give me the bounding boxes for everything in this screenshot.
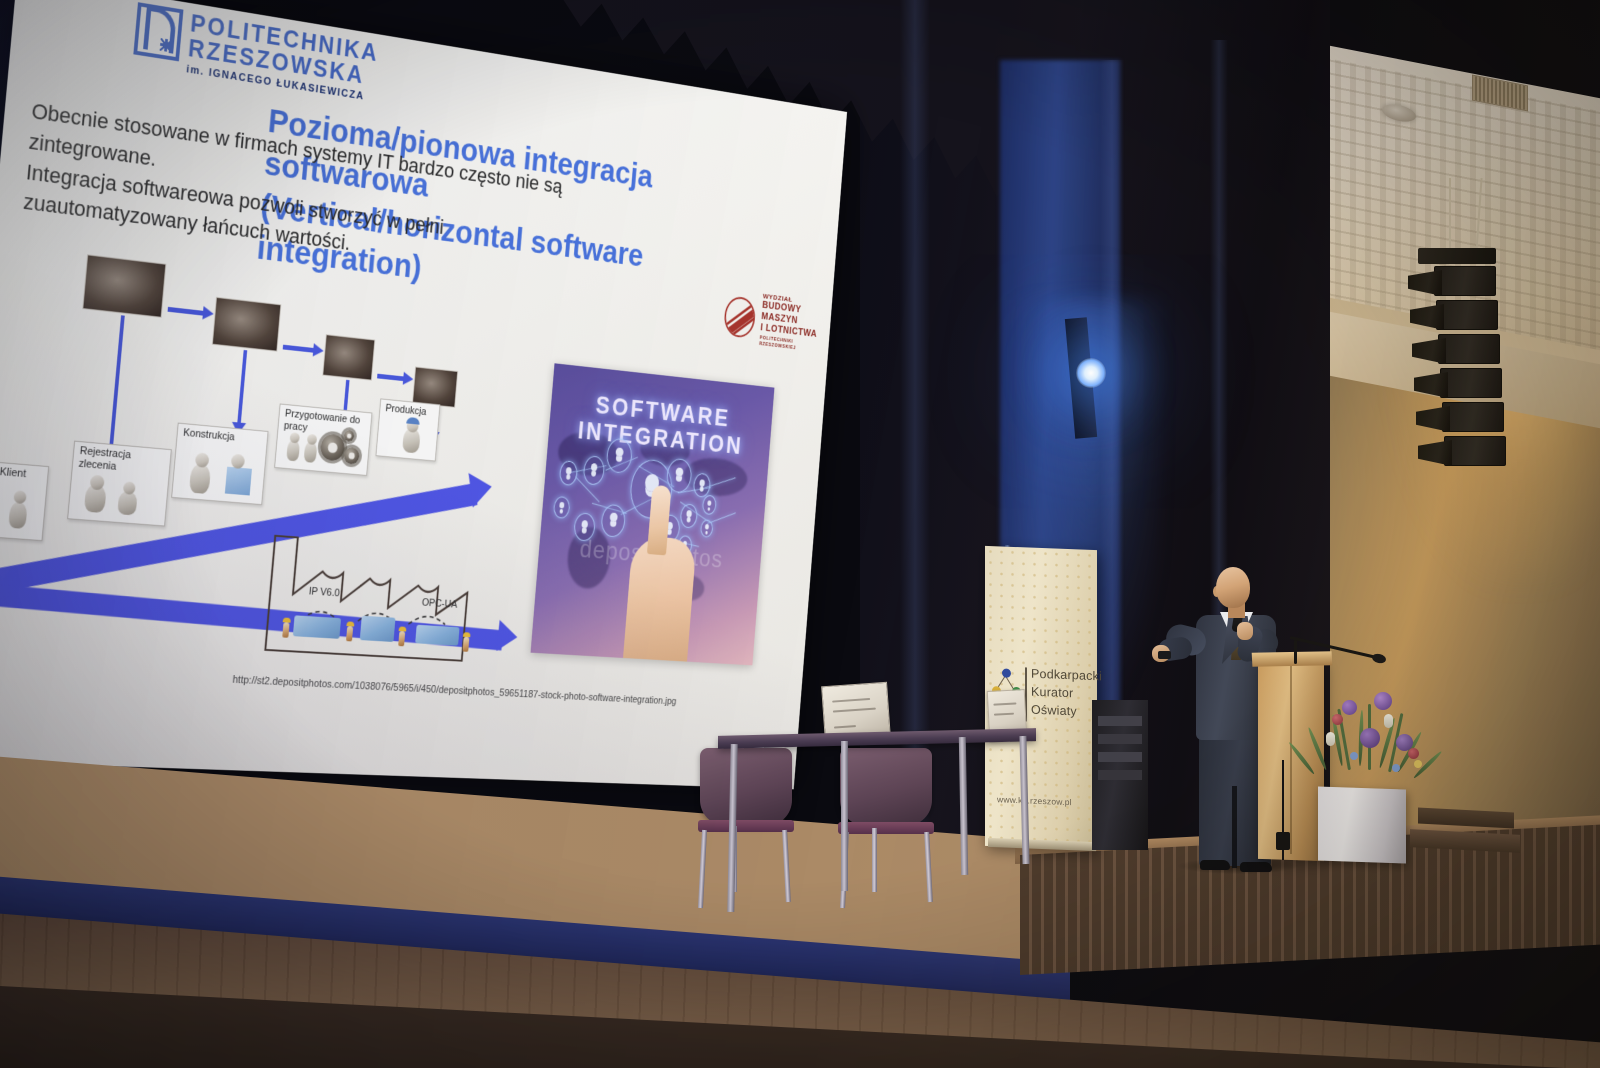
process-card-label: Klient xyxy=(0,466,27,481)
machine-icon xyxy=(293,615,341,639)
software-integration-image: SOFTWARE INTEGRATION xyxy=(531,363,775,665)
line-array-cabinet xyxy=(1440,368,1502,398)
stage-chair-left[interactable] xyxy=(700,748,792,826)
process-connector xyxy=(237,350,247,425)
flower-bloom-white xyxy=(1384,714,1393,728)
gear-icon xyxy=(343,430,354,442)
factory-label-opcua: OPC-UA xyxy=(421,597,457,610)
av-rack-panel xyxy=(1098,770,1142,780)
placard-text-line xyxy=(993,702,1016,705)
speaker-shoe xyxy=(1200,860,1230,870)
screenshot-root: POLITECHNIKA RZESZOWSKA im. IGNACEGO ŁUK… xyxy=(0,0,1600,1068)
presentation-clicker[interactable] xyxy=(1158,651,1171,659)
faculty-of-mechanical-engineering-and-aeronautics-logo-icon xyxy=(723,295,757,339)
speaker-leg-gap xyxy=(1232,786,1237,868)
factory-outline-icon xyxy=(261,530,523,667)
chair-seat-left[interactable] xyxy=(698,820,794,832)
figure-body-icon xyxy=(117,491,137,516)
flower-planter-box xyxy=(1318,786,1406,863)
process-arrow xyxy=(377,374,406,382)
worker-icon xyxy=(462,637,469,652)
machine-icon xyxy=(415,625,459,646)
process-card-klient: Klient xyxy=(0,462,49,542)
flower-bloom-red xyxy=(1408,748,1419,759)
flower-bloom-red xyxy=(1332,714,1343,725)
process-card-przygotowanie: Przygotowanie do pracy xyxy=(274,403,372,475)
gear-icon xyxy=(319,433,345,461)
figure-head-icon xyxy=(290,432,300,443)
flower-arrangement xyxy=(1296,690,1436,798)
factory-diagram: IP V6.0 OPC-UA xyxy=(261,530,523,667)
process-arrow xyxy=(283,345,316,353)
lectern-top-surface xyxy=(1252,651,1333,666)
blueprint-icon xyxy=(225,467,252,496)
stage-chair-right[interactable] xyxy=(840,748,932,826)
process-card-label: Produkcja xyxy=(385,403,427,419)
line-array-horn xyxy=(1414,372,1448,398)
faculty-logo: WYDZIAŁ BUDOWY MASZYN I LOTNICTWA POLITE… xyxy=(722,287,832,355)
lectern-microphone-stem xyxy=(1294,640,1297,664)
line-array-cabinet xyxy=(1434,266,1496,296)
university-logo: POLITECHNIKA RZESZOWSKA im. IGNACEGO ŁUK… xyxy=(132,2,380,104)
spotlight-lamp xyxy=(1076,358,1106,388)
av-rack-panel xyxy=(1098,716,1142,726)
process-arrow xyxy=(168,307,206,316)
slide-source-url: http://st2.depositphotos.com/1038076/596… xyxy=(232,674,677,707)
speaker-head xyxy=(1216,567,1250,608)
av-rack-panel xyxy=(1098,734,1142,744)
figure-head-icon xyxy=(307,434,317,445)
chair-leg xyxy=(872,828,877,892)
line-array-horn xyxy=(1418,440,1452,466)
process-card-label: Rejestracja zlecenia xyxy=(78,445,170,477)
process-card-rejestracja: Rejestracja zlecenia xyxy=(67,441,172,527)
rzeszow-university-of-technology-logo-icon xyxy=(133,2,183,61)
presentation-slide: POLITECHNIKA RZESZOWSKA im. IGNACEGO ŁUK… xyxy=(0,0,847,789)
line-array-horn xyxy=(1412,338,1446,364)
line-array-cabinet xyxy=(1438,334,1500,364)
line-array-cabinet xyxy=(1444,436,1506,466)
factory-label-ipv6: IP V6.0 xyxy=(308,586,340,599)
chair-seat-right[interactable] xyxy=(838,822,934,834)
speaker-shoe xyxy=(1240,862,1272,872)
gear-icon xyxy=(343,447,360,465)
figure-head-icon xyxy=(231,454,246,469)
placard-text-line xyxy=(834,725,856,729)
figure-body-icon xyxy=(189,464,211,494)
line-array-top-frame xyxy=(1418,248,1496,264)
process-photo-product xyxy=(82,254,166,317)
process-connector xyxy=(108,315,125,461)
university-logo-text: POLITECHNIKA RZESZOWSKA im. IGNACEGO ŁUK… xyxy=(186,11,380,104)
logo-dot-blue xyxy=(1002,669,1011,678)
line-array-cabinet xyxy=(1442,402,1504,432)
process-photo-panel xyxy=(322,334,375,380)
projection-screen: POLITECHNIKA RZESZOWSKA im. IGNACEGO ŁUK… xyxy=(0,0,847,815)
flower-bloom-purple xyxy=(1360,728,1380,748)
process-card-label: Konstrukcja xyxy=(183,427,235,444)
table-leg xyxy=(841,741,848,891)
placard-text-line xyxy=(833,708,877,713)
line-array-horn xyxy=(1416,406,1450,432)
figure-head-icon xyxy=(13,490,27,504)
line-array-loudspeaker xyxy=(1408,248,1528,478)
process-photo-machine xyxy=(212,297,281,352)
flower-bloom-blue xyxy=(1392,764,1400,772)
lectern-cable-box xyxy=(1276,832,1290,850)
line-array-horn xyxy=(1408,270,1442,296)
faculty-logo-text: WYDZIAŁ BUDOWY MASZYN I LOTNICTWA POLITE… xyxy=(759,292,832,355)
figure-head-icon xyxy=(195,452,210,468)
line-array-horn xyxy=(1410,304,1444,330)
line-array-cabinet xyxy=(1436,300,1498,330)
av-rack-panel xyxy=(1098,752,1142,762)
flower-bloom-white xyxy=(1326,732,1335,746)
flower-bloom-purple xyxy=(1374,692,1392,710)
process-card-konstrukcja: Konstrukcja xyxy=(171,423,268,506)
hard-hat-icon xyxy=(406,417,420,425)
lectern-seam xyxy=(1290,664,1292,854)
worker-icon xyxy=(398,631,405,646)
worker-icon xyxy=(346,626,353,641)
foliage-leaf xyxy=(1307,727,1328,771)
machine-icon xyxy=(360,616,396,642)
placard-text-line xyxy=(994,713,1014,716)
flower-bloom-blue xyxy=(1350,752,1358,760)
figure-body-icon xyxy=(8,502,28,529)
flower-bloom-yellow xyxy=(1414,760,1422,768)
flower-bloom-purple xyxy=(1342,700,1357,715)
speaker-suspension-wire xyxy=(1449,178,1451,248)
placard-text-line xyxy=(832,698,870,703)
speaker-hand-right xyxy=(1237,622,1253,640)
process-card-produkcja: Produkcja xyxy=(375,398,440,461)
